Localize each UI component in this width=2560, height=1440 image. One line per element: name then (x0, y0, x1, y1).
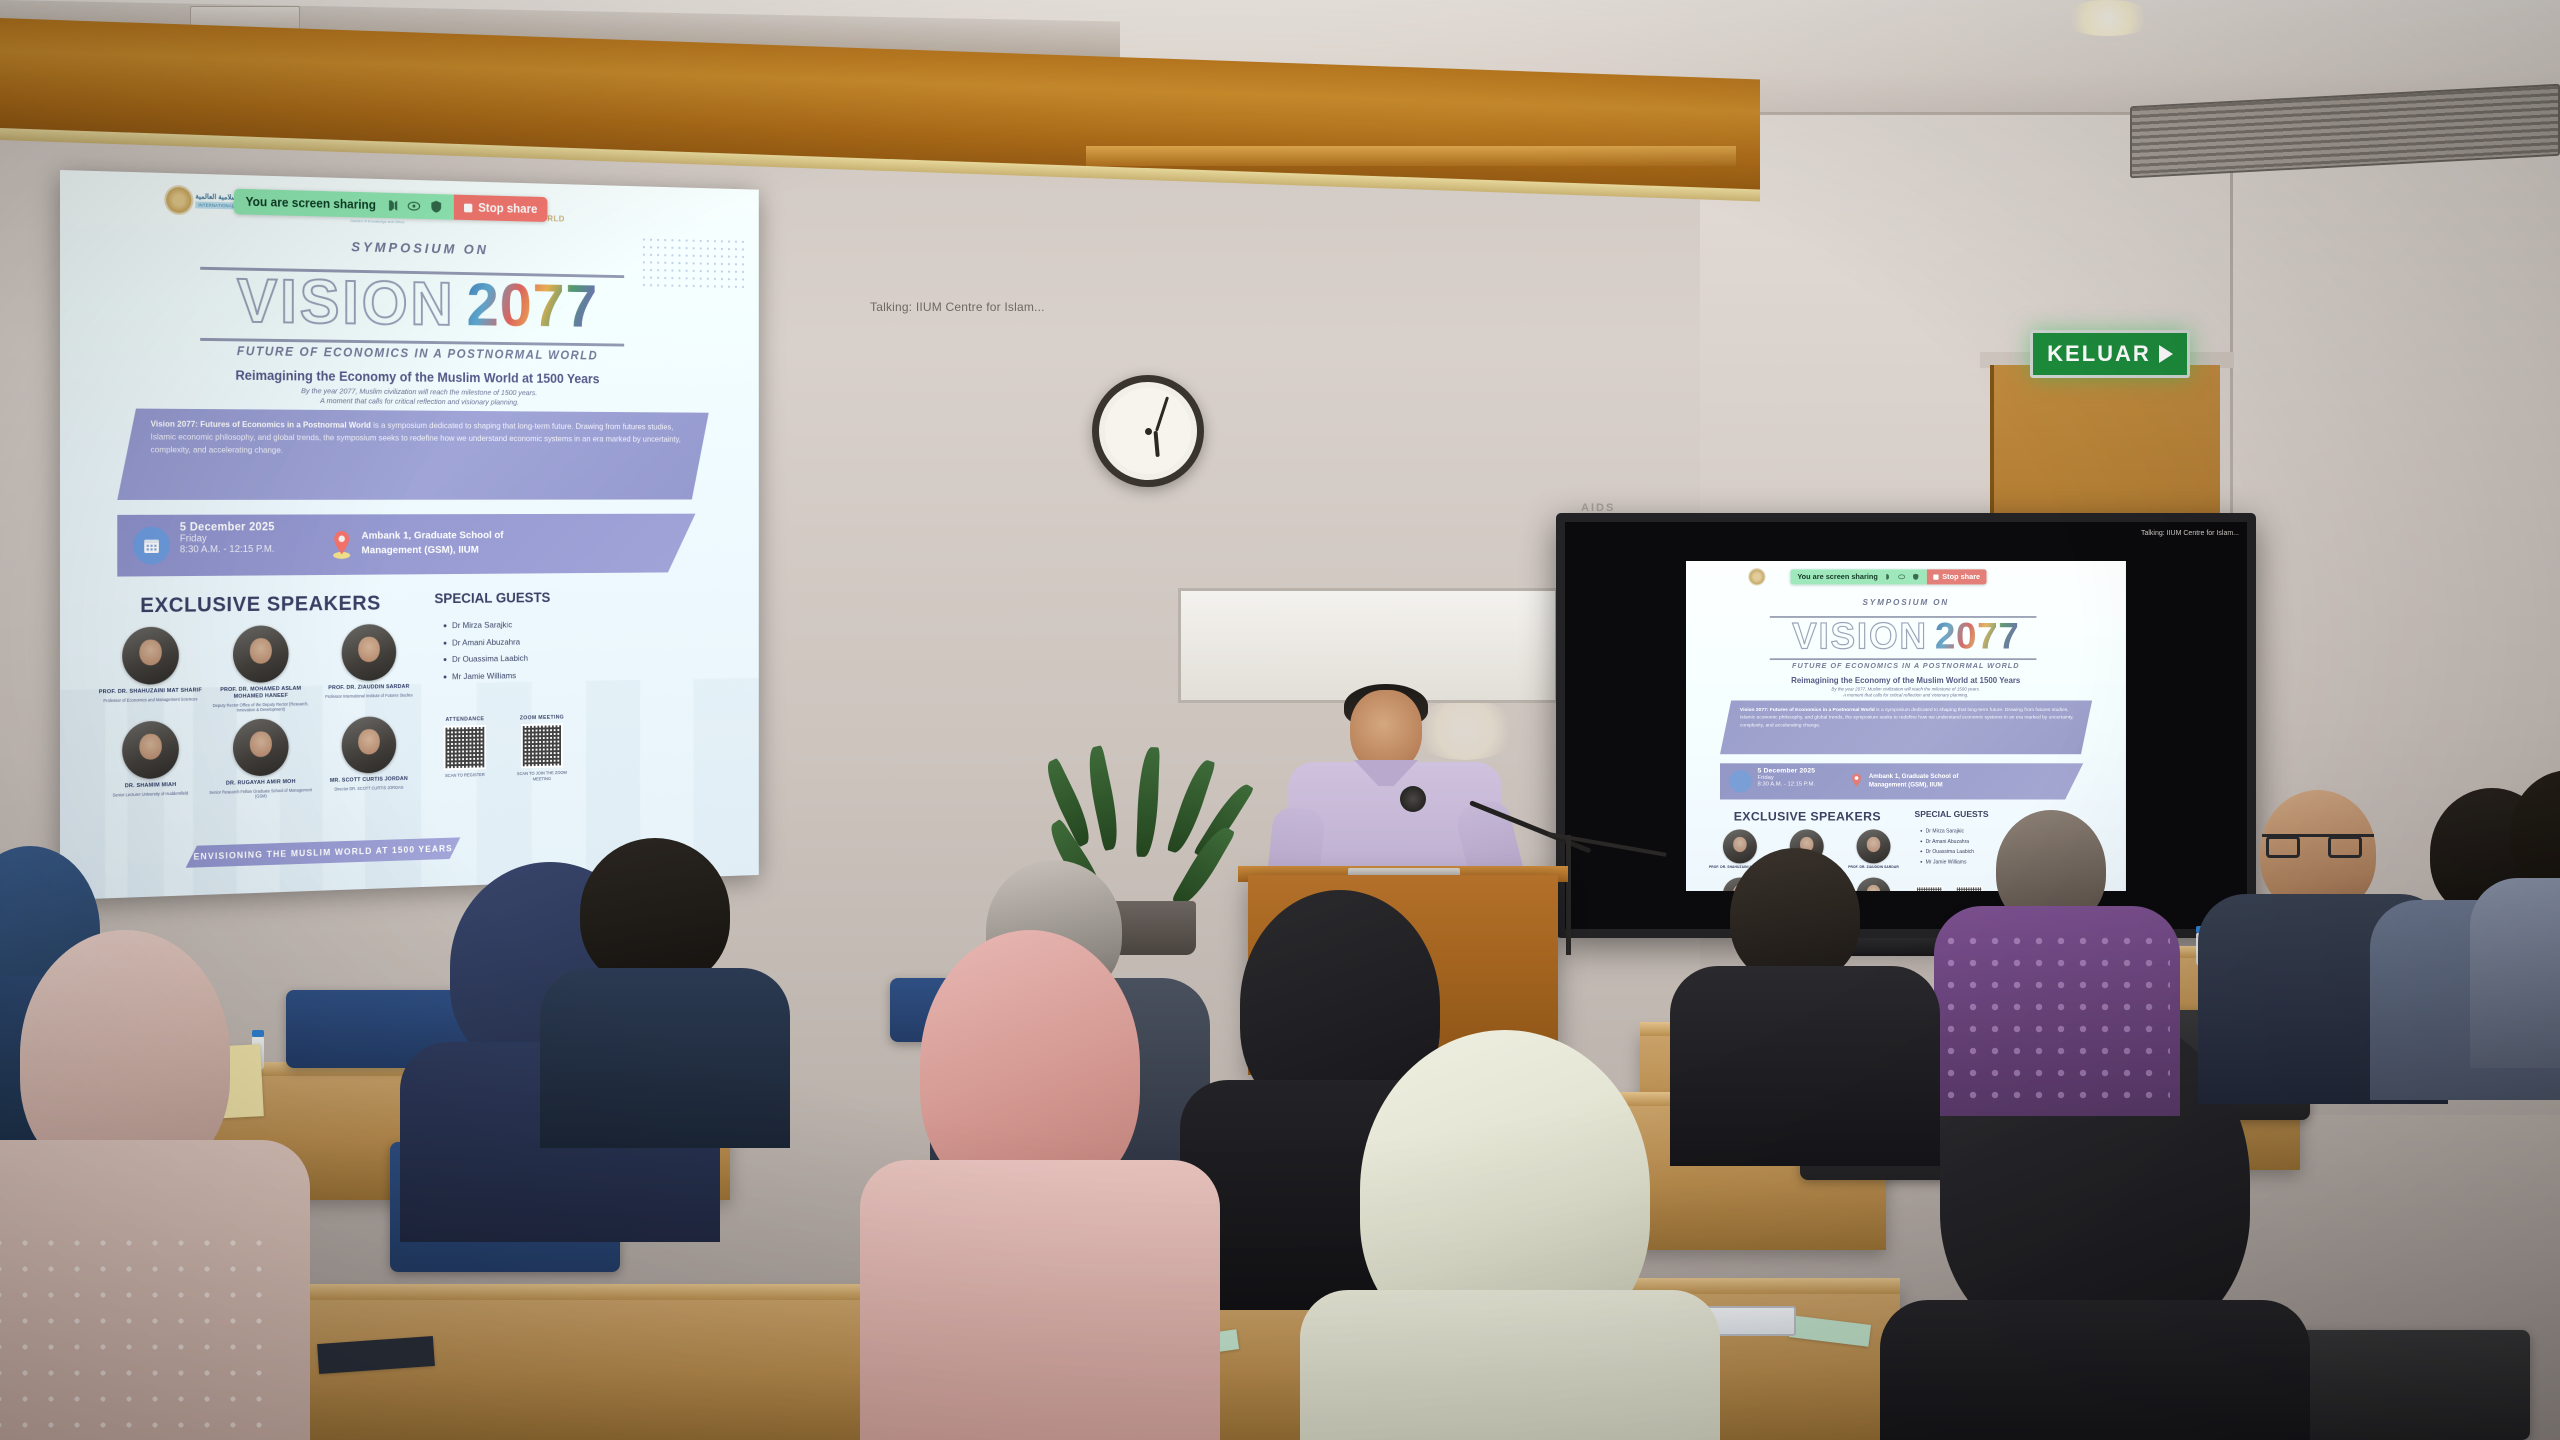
iium-emblem-icon (166, 187, 191, 213)
audience-member-rose-hijab (890, 930, 1190, 1440)
qr-caption: SCAN TO JOIN THE ZOOM MEETING (514, 770, 570, 782)
eyeglasses-lens (2328, 836, 2362, 858)
tv-venue-line1: Ambank 1, Graduate School of (1869, 771, 1998, 780)
video-icon (1897, 572, 1906, 581)
audience-member-far-right-2 (2490, 770, 2560, 1050)
tv-slide-eyebrow: SYMPOSIUM ON (1686, 597, 2126, 606)
slide-venue-block: Ambank 1, Graduate School of Management … (361, 528, 564, 557)
slide-title-vision: VISION (237, 266, 455, 340)
tv-description-text: Vision 2077: Futures of Economics in a P… (1740, 705, 2077, 728)
stop-square-icon (464, 203, 472, 212)
tv-speakers-heading: EXCLUSIVE SPEAKERS (1711, 810, 1904, 824)
slide-speakers-heading: EXCLUSIVE SPEAKERS (102, 592, 418, 619)
special-guest-name: Mr Jamie Williams (452, 667, 516, 685)
shoulders (1300, 1290, 1720, 1440)
location-pin-icon (324, 526, 360, 563)
tv-title-vision: VISION (1792, 614, 1928, 656)
slide-qr-section: ATTENDANCE SCAN TO REGISTER ZOOM MEETING… (436, 715, 570, 785)
bullet-icon (1920, 840, 1922, 842)
slide-footer-text: ENVISIONING THE MUSLIM WORLD AT 1500 YEA… (194, 843, 453, 861)
tv-title-year: 2077 (1935, 614, 2019, 656)
shoulders (1880, 1300, 2310, 1440)
speaker-role: Senior Lecturer University of Huddersfie… (113, 790, 189, 797)
shoulders (540, 968, 790, 1148)
exit-arrow-icon (2159, 345, 2173, 363)
qr-label: ZOOM MEETING (520, 715, 564, 722)
wall-wood-header (1086, 146, 1736, 166)
bullet-icon (1920, 829, 1922, 831)
avatar (342, 624, 396, 681)
tv-date-day: 5 December 2025 (1757, 767, 1815, 774)
speaker-card: DR. SHAMIM MIAH Senior Lecturer Universi… (96, 720, 205, 804)
tv-venue-block: Ambank 1, Graduate School of Management … (1869, 771, 1998, 788)
slide-title-row: VISION 2077 (60, 262, 759, 344)
tv-venue-line2: Management (GSM), IIUM (1869, 780, 1998, 789)
screenshot-root: KELUAR الجامعة الإسلامية العالمية INTERN… (0, 0, 2560, 1440)
speaker-card: PROF. DR. MOHAMED ASLAM MOHAMED HANEEF D… (207, 625, 314, 714)
tv-date-block: 5 December 2025 Friday 8:30 A.M. - 12:15… (1757, 767, 1815, 787)
avatar (122, 627, 179, 685)
shield-icon[interactable] (429, 199, 443, 214)
qr-code-icon[interactable] (444, 725, 486, 770)
avatar (122, 720, 179, 779)
audience-member-dark-right-back (1700, 848, 1920, 1148)
microphone-head (1400, 786, 1426, 812)
tv-iium-logo (1749, 569, 1764, 584)
qr-code-icon[interactable] (521, 723, 563, 768)
clothing-pattern (0, 1230, 280, 1440)
presenter-head (1350, 690, 1422, 772)
head (580, 838, 730, 988)
shoulders (860, 1160, 1220, 1440)
slide-date-block: 5 December 2025 Friday 8:30 A.M. - 12:15… (180, 521, 275, 555)
list-item: Mr Jamie Williams (444, 666, 635, 686)
bullet-icon (1920, 850, 1922, 852)
clock-face (1105, 388, 1191, 474)
slide-special-guests-heading: SPECIAL GUESTS (434, 590, 608, 607)
special-guest-name: Dr Amani Abuzahra (452, 634, 520, 652)
exit-sign: KELUAR (2030, 330, 2190, 378)
qr-label: ATTENDANCE (445, 716, 484, 723)
projected-slide: الجامعة الإسلامية العالمية INTERNATIONAL… (60, 170, 759, 900)
avatar (233, 625, 289, 683)
shoulders (2470, 878, 2560, 1068)
speaker-card: PROF. DR. ZIAUDDIN SARDAR Professor Inte… (316, 624, 421, 712)
special-guest-name: Dr Mirza Sarajkic (452, 617, 512, 635)
bullet-icon (444, 675, 447, 678)
plant-leaf (1136, 747, 1160, 858)
tv-talking-indicator: Talking: IIUM Centre for Islam... (2141, 530, 2239, 537)
tv-description-lead: Vision 2077: Futures of Economics in a P… (1740, 706, 1875, 712)
exit-sign-label: KELUAR (2047, 341, 2151, 367)
speaker-card: MR. SCOTT CURTIS JORDAN Director DR. SCO… (316, 716, 421, 798)
shield-icon (1911, 572, 1920, 581)
avatar (342, 716, 396, 774)
calendar-icon (133, 527, 170, 565)
slide-date-day: 5 December 2025 (180, 521, 275, 533)
projection-screen: الجامعة الإسلامية العالمية INTERNATIONAL… (60, 170, 759, 900)
bullet-icon (444, 641, 447, 644)
slide-venue-line1: Ambank 1, Graduate School of (361, 528, 564, 543)
zoom-sharing-status: You are screen sharing (234, 189, 454, 220)
speaker-role: Professor International Institute of Fut… (325, 693, 412, 700)
qr-caption: SCAN TO REGISTER (436, 772, 493, 779)
clock-hour-hand (1154, 431, 1160, 457)
tv-zoom-status-label: You are screen sharing (1797, 572, 1877, 580)
audience-member-cream-hijab (1310, 1030, 1730, 1440)
tv-reimagine-sub2: A moment that calls for critical reflect… (1686, 692, 2126, 697)
slide-date-weekday: Friday (180, 533, 275, 544)
tv-date-weekday: Friday (1757, 774, 1815, 780)
stop-share-label: Stop share (478, 201, 537, 216)
slide-date-time: 8:30 A.M. - 12:15 P.M. (180, 544, 275, 555)
speaker-role: Professor of Economics and Management Sc… (103, 696, 197, 703)
video-icon[interactable] (407, 199, 421, 214)
slide-venue-line2: Management (GSM), IIUM (361, 542, 564, 557)
zoom-talking-indicator: Talking: IIUM Centre for Islam... (870, 300, 1045, 314)
iium-emblem-icon (1749, 569, 1764, 584)
speaker-name: PROF. DR. ZIAUDDIN SARDAR (328, 684, 409, 692)
eyeglasses-lens (2266, 836, 2300, 858)
tv-brand-label: AIDS (1581, 502, 1615, 514)
tv-stop-share-label: Stop share (1942, 572, 1980, 580)
bullet-icon (1920, 860, 1922, 862)
mic-icon (1883, 572, 1892, 581)
location-pin-icon (1845, 770, 1867, 792)
special-guest-name: Dr Ouassima Laabich (452, 650, 528, 668)
speaker-role: Director DR. SCOTT CURTIS JORDAN (334, 785, 403, 792)
head (1730, 848, 1860, 984)
speaker-role: Deputy Rector Office of the Deputy Recto… (207, 701, 314, 714)
slide-title-year: 2077 (467, 270, 598, 341)
tv-reimagine-heading: Reimagining the Economy of the Muslim Wo… (1686, 675, 2126, 684)
clothing-pattern (1940, 930, 2170, 1110)
tv-rule-bottom (1770, 658, 2037, 659)
ceiling-light-1 (2060, 0, 2156, 36)
zoom-sharing-label: You are screen sharing (246, 195, 376, 212)
avatar (233, 718, 289, 776)
tv-date-time: 8:30 A.M. - 12:15 P.M. (1757, 780, 1815, 786)
clock-center-pin (1145, 428, 1152, 435)
speaker-name: PROF. DR. SHAHUZAINI MAT SHARIF (99, 688, 202, 697)
audience-member-purple-batik (1950, 810, 2170, 1130)
qr-block: ATTENDANCE SCAN TO REGISTER (436, 716, 493, 784)
tv-zoom-toolbar: You are screen sharing Stop share (1790, 569, 1986, 584)
clock-minute-hand (1155, 396, 1169, 431)
bullet-icon (444, 658, 447, 661)
shoulders (1670, 966, 1940, 1166)
calendar-icon (1729, 770, 1751, 792)
slide-special-guests-list: Dr Mirza Sarajkic Dr Amani Abuzahra Dr O… (444, 615, 635, 685)
tv-zoom-status: You are screen sharing (1790, 569, 1927, 584)
wall-clock (1092, 375, 1204, 487)
qr-pattern (446, 727, 485, 768)
mic-icon[interactable] (384, 198, 398, 213)
audience-member-pink-left (0, 930, 260, 1440)
tv-title-row: VISION 2077 (1686, 614, 2126, 656)
qr-block: ZOOM MEETING SCAN TO JOIN THE ZOOM MEETI… (514, 715, 570, 783)
stop-share-button[interactable]: Stop share (454, 195, 547, 222)
chair[interactable] (2290, 1330, 2530, 1440)
table-edge (290, 1284, 950, 1300)
tv-stop-share-button: Stop share (1927, 569, 1987, 584)
audience-member-dark-hair-left (560, 838, 760, 1138)
slide-description-text: Vision 2077: Futures of Economics in a P… (151, 418, 686, 458)
speaker-card: DR. RUGAYAH AMIR MOH Senior Research Fel… (207, 718, 314, 801)
tv-reimagine-sub1: By the year 2077, Muslim civilization wi… (1686, 686, 2126, 691)
speaker-name: DR. RUGAYAH AMIR MOH (226, 779, 296, 788)
speaker-name: MR. SCOTT CURTIS JORDAN (330, 776, 408, 785)
microphone-post (1566, 835, 1571, 955)
speaker-name: PROF. DR. MOHAMED ASLAM MOHAMED HANEEF (207, 686, 314, 702)
slide-speakers-grid: PROF. DR. SHAHUZAINI MAT SHARIF Professo… (96, 624, 422, 804)
speaker-name: DR. SHAMIM MIAH (125, 782, 176, 790)
slide-description-lead: Vision 2077: Futures of Economics in a P… (151, 419, 371, 430)
qr-pattern (523, 725, 561, 766)
speaker-card: PROF. DR. SHAHUZAINI MAT SHARIF Professo… (96, 626, 205, 716)
bullet-icon (444, 624, 447, 627)
qr-pattern (1917, 887, 1942, 891)
tv-slide-subtitle: FUTURE OF ECONOMICS IN A POSTNORMAL WORL… (1686, 661, 2126, 669)
stop-square-icon (1933, 574, 1938, 579)
